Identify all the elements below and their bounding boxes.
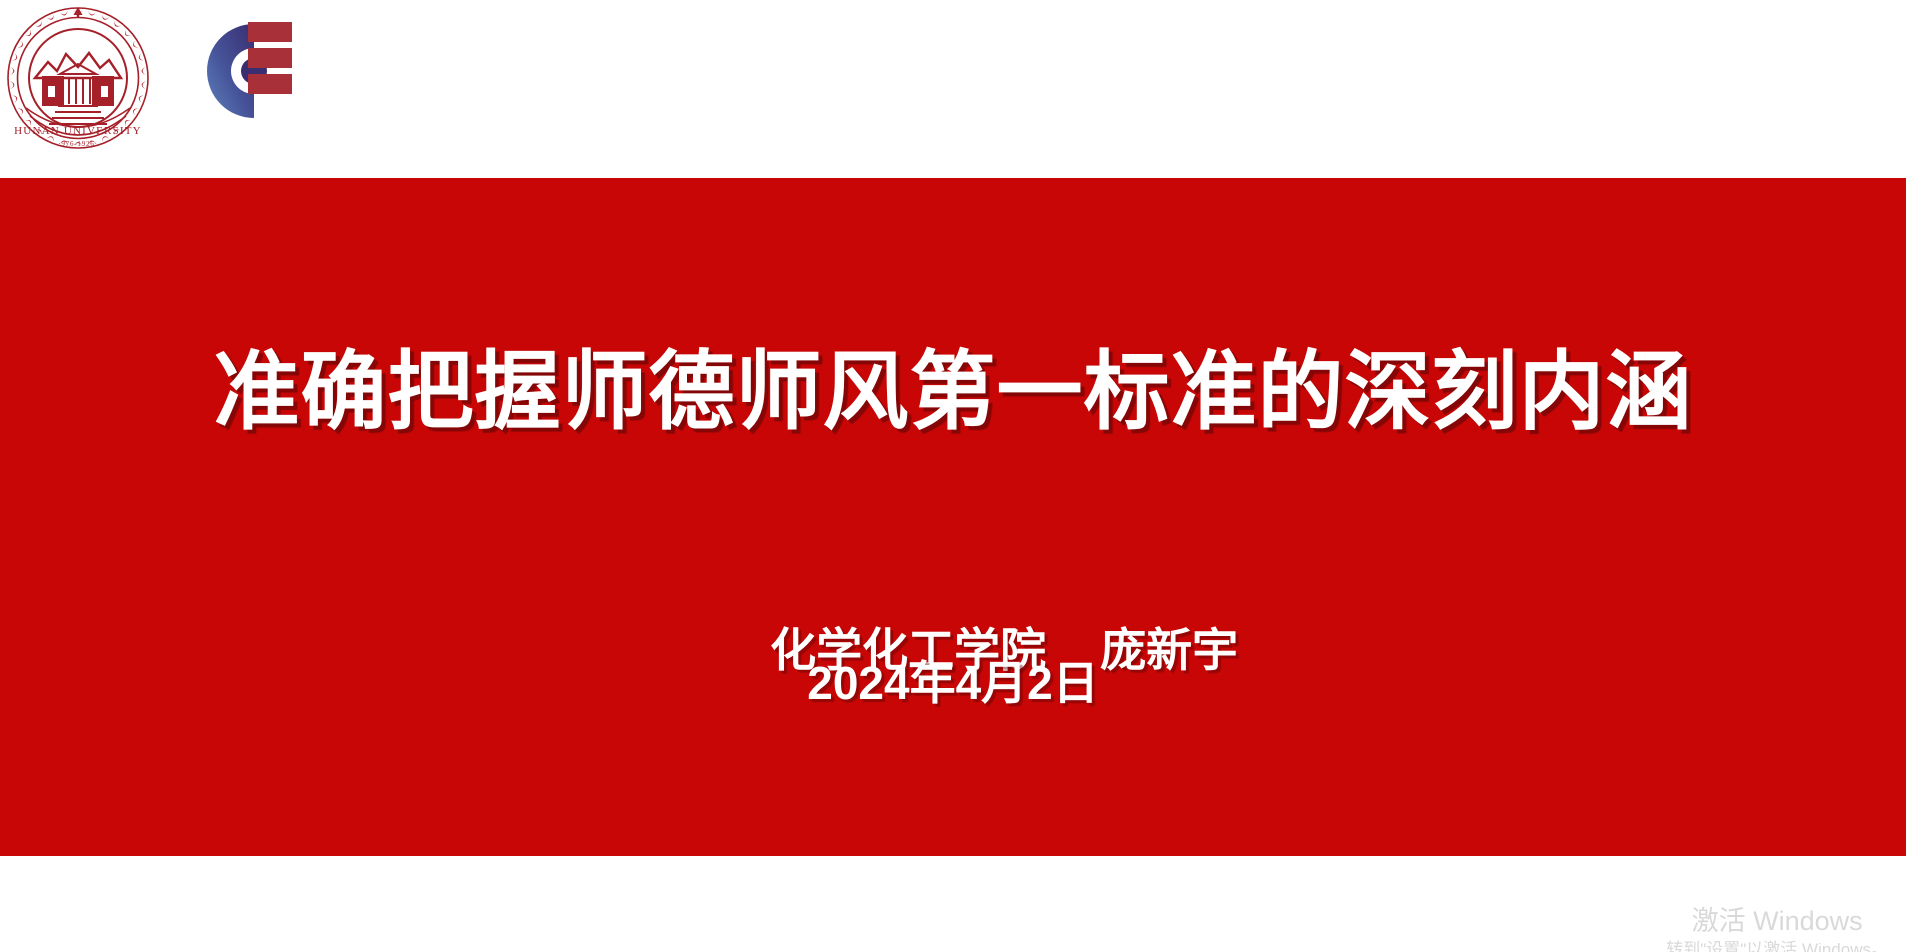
- watermark-subtitle: 转到"设置"以激活 Windows。: [1666, 938, 1888, 952]
- slide-header-band: HUNAN UNIVERSITY ·976-1926·: [0, 0, 1906, 178]
- presentation-date: 2024年4月2日: [807, 656, 1099, 711]
- svg-text:·976-1926·: ·976-1926·: [58, 140, 98, 148]
- college-of-chemistry-logo: [168, 12, 292, 130]
- slide-date-container: 2024年4月2日: [0, 656, 1906, 711]
- page-title: 准确把握师德师风第一标准的深刻内涵: [214, 344, 1693, 440]
- hunan-university-seal-logo: HUNAN UNIVERSITY ·976-1926·: [4, 4, 152, 152]
- watermark-title: 激活 Windows: [1666, 904, 1888, 938]
- slide-footer-band: 激活 Windows 转到"设置"以激活 Windows。: [0, 856, 1906, 952]
- windows-activation-watermark: 激活 Windows 转到"设置"以激活 Windows。: [1666, 904, 1888, 952]
- svg-text:HUNAN UNIVERSITY: HUNAN UNIVERSITY: [14, 125, 142, 137]
- slide-red-panel: 准确把握师德师风第一标准的深刻内涵 化学化工学院庞新宇 2024年4月2日: [0, 178, 1906, 856]
- slide-title-container: 准确把握师德师风第一标准的深刻内涵: [0, 286, 1906, 498]
- presentation-slide: HUNAN UNIVERSITY ·976-1926·: [0, 0, 1906, 952]
